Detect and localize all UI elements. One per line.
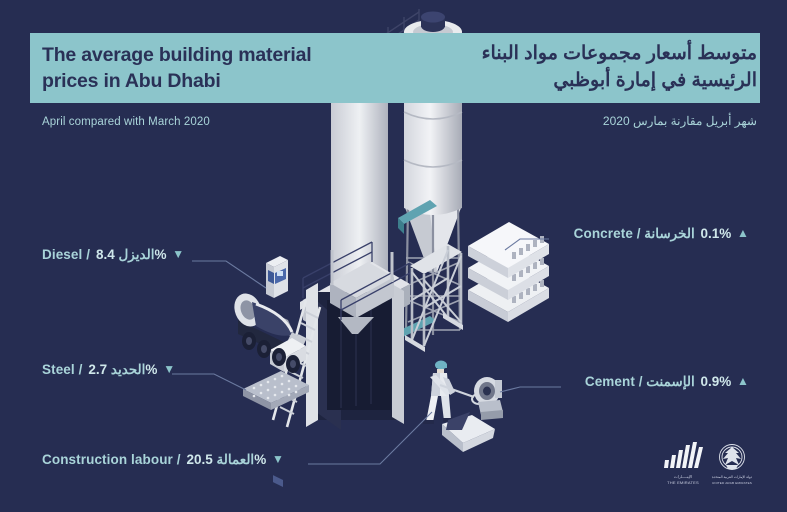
uae-emblem-ar: دولة الإمارات العربية المتحدة bbox=[712, 475, 753, 480]
callout-steel: Steel / الحديد 2.7% ▼ bbox=[42, 362, 175, 378]
page-subtitle-ar: شهر أبريل مقارنة بمارس 2020 bbox=[603, 114, 757, 128]
page-title-en: The average building material prices in … bbox=[42, 42, 372, 94]
callout-separator: / bbox=[177, 452, 181, 467]
uae-emblem-icon bbox=[720, 445, 745, 470]
callout-cement: ▲ 0.9% الإسمنت / Cement bbox=[585, 374, 749, 390]
callout-concrete: ▲ 0.1% الخرسانة / Concrete bbox=[574, 226, 749, 242]
callout-label-en: Construction labour bbox=[42, 452, 173, 467]
concrete-slab-stack bbox=[468, 222, 549, 322]
arrow-up-icon: ▲ bbox=[737, 374, 749, 388]
callout-label-en: Diesel bbox=[42, 247, 82, 262]
batching-tower bbox=[303, 242, 410, 430]
page-title-ar: متوسط أسعار مجموعات مواد البناء الرئيسية… bbox=[417, 40, 757, 94]
callout-label-ar: الديزل bbox=[119, 247, 155, 262]
callout-separator: / bbox=[79, 362, 83, 377]
logo-group: الإمــــارات THE EMIRATES دولة الإمارات … bbox=[662, 438, 757, 494]
callout-value: 0.9% bbox=[700, 374, 731, 389]
uae-emblem-en: UNITED ARAB EMIRATES bbox=[712, 481, 752, 485]
arrow-up-icon: ▲ bbox=[737, 226, 749, 240]
arrow-down-icon: ▼ bbox=[163, 362, 175, 376]
infographic-root: The average building material prices in … bbox=[0, 0, 787, 512]
callout-diesel: Diesel / الديزل 8.4% ▼ bbox=[42, 247, 184, 263]
callout-label-ar: الخرسانة bbox=[644, 226, 694, 241]
arrow-down-icon: ▼ bbox=[272, 452, 284, 466]
emirates-brand-icon bbox=[664, 442, 703, 468]
callout-label-ar: الإسمنت bbox=[646, 374, 694, 389]
callout-label-en: Steel bbox=[42, 362, 75, 377]
page-subtitle-en: April compared with March 2020 bbox=[42, 116, 210, 128]
callout-separator: / bbox=[86, 247, 90, 262]
callout-value: 0.1% bbox=[700, 226, 731, 241]
connector-cement bbox=[500, 387, 561, 392]
callout-label-en: Cement bbox=[585, 374, 635, 389]
mixer-drum bbox=[474, 377, 503, 420]
connector-steel bbox=[172, 374, 246, 390]
fuel-pump bbox=[266, 256, 288, 298]
callout-label-en: Concrete bbox=[574, 226, 633, 241]
callout-label-ar: العمالة bbox=[217, 452, 255, 467]
arrow-down-icon: ▼ bbox=[172, 247, 184, 261]
callout-construction-labour: Construction labour / العمالة 20.5% ▼ bbox=[42, 452, 284, 468]
callout-separator: / bbox=[639, 374, 643, 389]
logos-svg: الإمــــارات THE EMIRATES دولة الإمارات … bbox=[662, 438, 757, 494]
connector-diesel bbox=[192, 261, 266, 288]
emirates-logo-en: THE EMIRATES bbox=[667, 480, 699, 485]
callout-separator: / bbox=[637, 226, 641, 241]
callout-label-ar: الحديد bbox=[111, 362, 146, 377]
